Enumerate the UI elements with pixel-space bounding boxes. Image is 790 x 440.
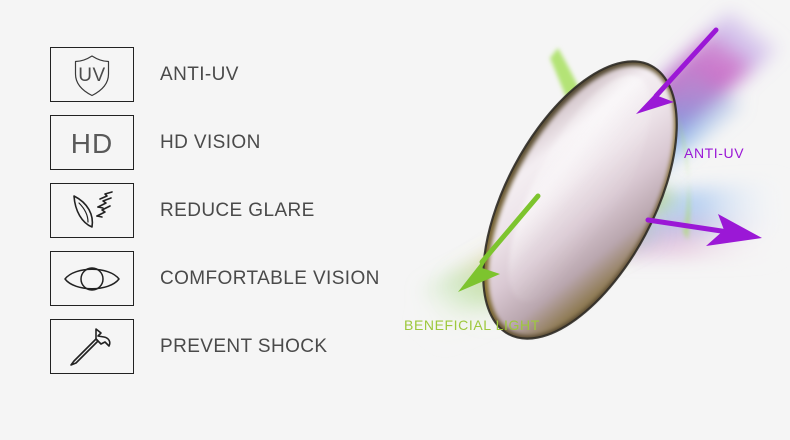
feature-label-hd-vision: HD VISION xyxy=(160,133,261,152)
hd-text-icon: HD xyxy=(50,115,134,170)
hd-text-icon-text: HD xyxy=(71,128,113,159)
eye-icon xyxy=(50,251,134,306)
beneficial-light-label: BENEFICIAL LIGHT xyxy=(404,317,540,333)
uv-shield-icon-text: UV xyxy=(78,65,105,86)
feature-label-comfortable-vision: COMFORTABLE VISION xyxy=(160,269,380,288)
uv-shield-icon: UV xyxy=(50,47,134,102)
coated-lens-light-diagram xyxy=(390,0,790,440)
anti-uv-beam-label: ANTI-UV xyxy=(684,145,744,161)
product-feature-banner: UV ANTI-UV HD HD VISION xyxy=(0,0,790,440)
feature-label-reduce-glare: REDUCE GLARE xyxy=(160,201,315,220)
feature-label-prevent-shock: PREVENT SHOCK xyxy=(160,337,327,356)
feature-label-anti-uv: ANTI-UV xyxy=(160,65,239,84)
glare-deflection-icon xyxy=(50,183,134,238)
hammer-icon xyxy=(50,319,134,374)
